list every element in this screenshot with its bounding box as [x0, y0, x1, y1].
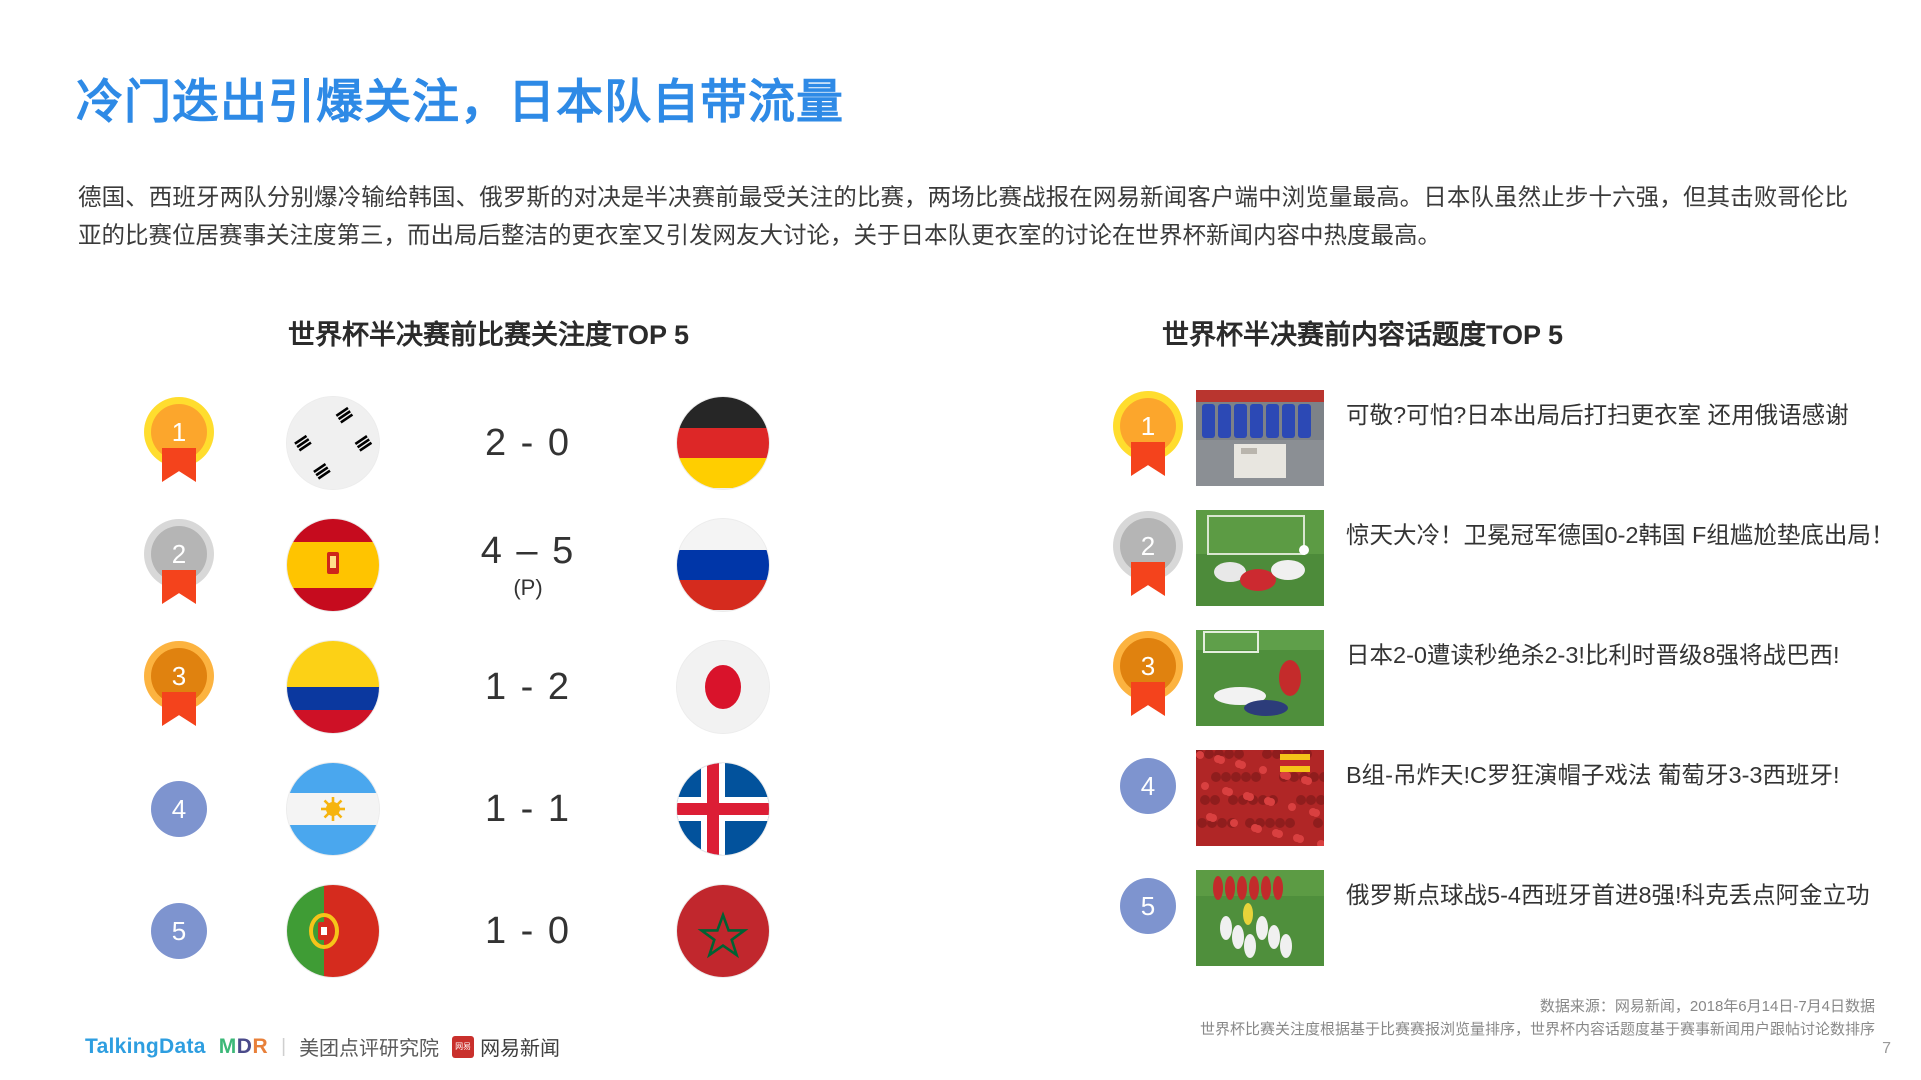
topic-thumbnail-red-crowd-photo[interactable] — [1196, 750, 1324, 846]
match-row: 2 4 – 5 (P) — [120, 504, 920, 626]
medal-ribbon-icon — [162, 448, 196, 482]
flag-icon-colombia — [287, 641, 379, 733]
flag-icon-russia — [677, 519, 769, 611]
mdr-logo: MDR — [219, 1035, 268, 1059]
match-rank-cell: 3 — [120, 648, 238, 726]
rank-badge-plain: 5 — [151, 903, 207, 959]
match-score-cell: 1 - 0 — [428, 910, 628, 953]
match-ranking-list: 1 2 - 0 2 — [120, 382, 920, 992]
match-row: 1 2 - 0 — [120, 382, 920, 504]
match-score: 2 - 0 — [485, 422, 571, 465]
flag-icon-japan — [677, 641, 769, 733]
topic-rank-cell: 3 — [1100, 630, 1196, 716]
away-flag-cell — [628, 397, 818, 489]
match-rank-cell: 2 — [120, 526, 238, 604]
medal-icon-bronze: 3 — [1120, 638, 1176, 716]
medal-ribbon-icon — [162, 692, 196, 726]
page-number: 7 — [1882, 1040, 1891, 1058]
match-score-cell: 2 - 0 — [428, 422, 628, 465]
meituan-research-logo: 美团点评研究院 — [299, 1032, 439, 1061]
topic-row[interactable]: 4 B组-吊炸天!C罗狂演帽子戏法 葡萄牙3-3西班牙! — [1100, 750, 1900, 870]
lede-paragraph: 德国、西班牙两队分别爆冷输给韩国、俄罗斯的对决是半决赛前最受关注的比赛，两场比赛… — [78, 178, 1848, 254]
flag-icon-germany — [677, 397, 769, 489]
topic-rank-cell: 5 — [1100, 870, 1196, 934]
topic-headline[interactable]: 俄罗斯点球战5-4西班牙首进8强!科克丢点阿金立功 — [1324, 870, 1900, 913]
topic-thumbnail-locker-room-photo[interactable] — [1196, 390, 1324, 486]
medal-ribbon-icon — [162, 570, 196, 604]
flag-icon-spain — [287, 519, 379, 611]
topic-ranking-list: 1 可敬?可怕?日本出局后打扫更衣室 还用俄语感谢 2 惊天大冷！卫冕冠军德国0… — [1100, 390, 1900, 990]
topic-headline[interactable]: B组-吊炸天!C罗狂演帽子戏法 葡萄牙3-3西班牙! — [1324, 750, 1900, 793]
rank-badge-plain: 4 — [151, 781, 207, 837]
match-score: 1 - 1 — [485, 788, 571, 831]
match-score: 4 – 5 — [481, 530, 576, 573]
topic-headline[interactable]: 日本2-0遭读秒绝杀2-3!比利时晋级8强将战巴西! — [1324, 630, 1900, 673]
flag-icon-argentina — [287, 763, 379, 855]
talkingdata-logo: TalkingData — [85, 1035, 206, 1059]
away-flag-cell — [628, 885, 818, 977]
right-panel-heading: 世界杯半决赛前内容话题度TOP 5 — [1162, 313, 1563, 352]
mdr-d: D — [237, 1035, 253, 1058]
home-flag-cell — [238, 763, 428, 855]
mdr-m: M — [219, 1035, 237, 1058]
medal-ribbon-icon — [1131, 682, 1165, 716]
topic-thumbnail-celebration-photo[interactable] — [1196, 870, 1324, 966]
left-panel-heading: 世界杯半决赛前比赛关注度TOP 5 — [288, 313, 689, 352]
medal-icon-silver: 2 — [151, 526, 207, 604]
mdr-r: R — [252, 1035, 268, 1058]
medal-icon-gold: 1 — [151, 404, 207, 482]
medal-icon-gold: 1 — [1120, 398, 1176, 476]
home-flag-cell — [238, 397, 428, 489]
topic-thumbnail-players-on-pitch-photo[interactable] — [1196, 630, 1324, 726]
flag-icon-south-korea — [287, 397, 379, 489]
rank-badge-plain: 5 — [1120, 878, 1176, 934]
home-flag-cell — [238, 641, 428, 733]
match-rank-cell: 4 — [120, 781, 238, 837]
medal-icon-bronze: 3 — [151, 648, 207, 726]
match-score-note: (P) — [513, 575, 542, 601]
topic-row[interactable]: 1 可敬?可怕?日本出局后打扫更衣室 还用俄语感谢 — [1100, 390, 1900, 510]
match-score: 1 - 0 — [485, 910, 571, 953]
match-row: 3 1 - 2 — [120, 626, 920, 748]
flag-icon-morocco — [677, 885, 769, 977]
logo-divider: | — [281, 1036, 286, 1058]
topic-row[interactable]: 3 日本2-0遭读秒绝杀2-3!比利时晋级8强将战巴西! — [1100, 630, 1900, 750]
home-flag-cell — [238, 885, 428, 977]
match-rank-cell: 1 — [120, 404, 238, 482]
home-flag-cell — [238, 519, 428, 611]
rank-badge-plain: 4 — [1120, 758, 1176, 814]
away-flag-cell — [628, 763, 818, 855]
source-line-2: 世界杯比赛关注度根据基于比赛赛报浏览量排序，世界杯内容话题度基于赛事新闻用户跟帖… — [1200, 1018, 1875, 1039]
netease-label: 网易新闻 — [480, 1032, 560, 1061]
source-line-1: 数据来源：网易新闻，2018年6月14日-7月4日数据 — [1540, 995, 1875, 1016]
topic-row[interactable]: 2 惊天大冷！卫冕冠军德国0-2韩国 F组尴尬垫底出局！ — [1100, 510, 1900, 630]
flag-icon-portugal — [287, 885, 379, 977]
footer-logos: TalkingData MDR | 美团点评研究院 网易 网易新闻 — [85, 1032, 560, 1061]
topic-headline[interactable]: 可敬?可怕?日本出局后打扫更衣室 还用俄语感谢 — [1324, 390, 1900, 433]
away-flag-cell — [628, 519, 818, 611]
flag-icon-iceland — [677, 763, 769, 855]
topic-thumbnail-goalmouth-photo[interactable] — [1196, 510, 1324, 606]
match-score-cell: 1 - 2 — [428, 666, 628, 709]
topic-rank-cell: 2 — [1100, 510, 1196, 596]
netease-news-logo: 网易 网易新闻 — [452, 1032, 560, 1061]
match-row: 4 1 - 1 — [120, 748, 920, 870]
netease-badge-icon: 网易 — [452, 1036, 474, 1058]
medal-icon-silver: 2 — [1120, 518, 1176, 596]
match-row: 5 1 - 0 — [120, 870, 920, 992]
medal-ribbon-icon — [1131, 442, 1165, 476]
page-title: 冷门迭出引爆关注，日本队自带流量 — [76, 63, 844, 132]
match-score-cell: 1 - 1 — [428, 788, 628, 831]
match-rank-cell: 5 — [120, 903, 238, 959]
topic-rank-cell: 1 — [1100, 390, 1196, 476]
topic-headline[interactable]: 惊天大冷！卫冕冠军德国0-2韩国 F组尴尬垫底出局！ — [1324, 510, 1900, 553]
topic-row[interactable]: 5 俄罗斯点球战5-4西班牙首进8强!科克丢点阿金立功 — [1100, 870, 1900, 990]
match-score-cell: 4 – 5 (P) — [428, 530, 628, 601]
slide-root: 冷门迭出引爆关注，日本队自带流量 德国、西班牙两队分别爆冷输给韩国、俄罗斯的对决… — [0, 0, 1921, 1080]
away-flag-cell — [628, 641, 818, 733]
medal-ribbon-icon — [1131, 562, 1165, 596]
match-score: 1 - 2 — [485, 666, 571, 709]
topic-rank-cell: 4 — [1100, 750, 1196, 814]
